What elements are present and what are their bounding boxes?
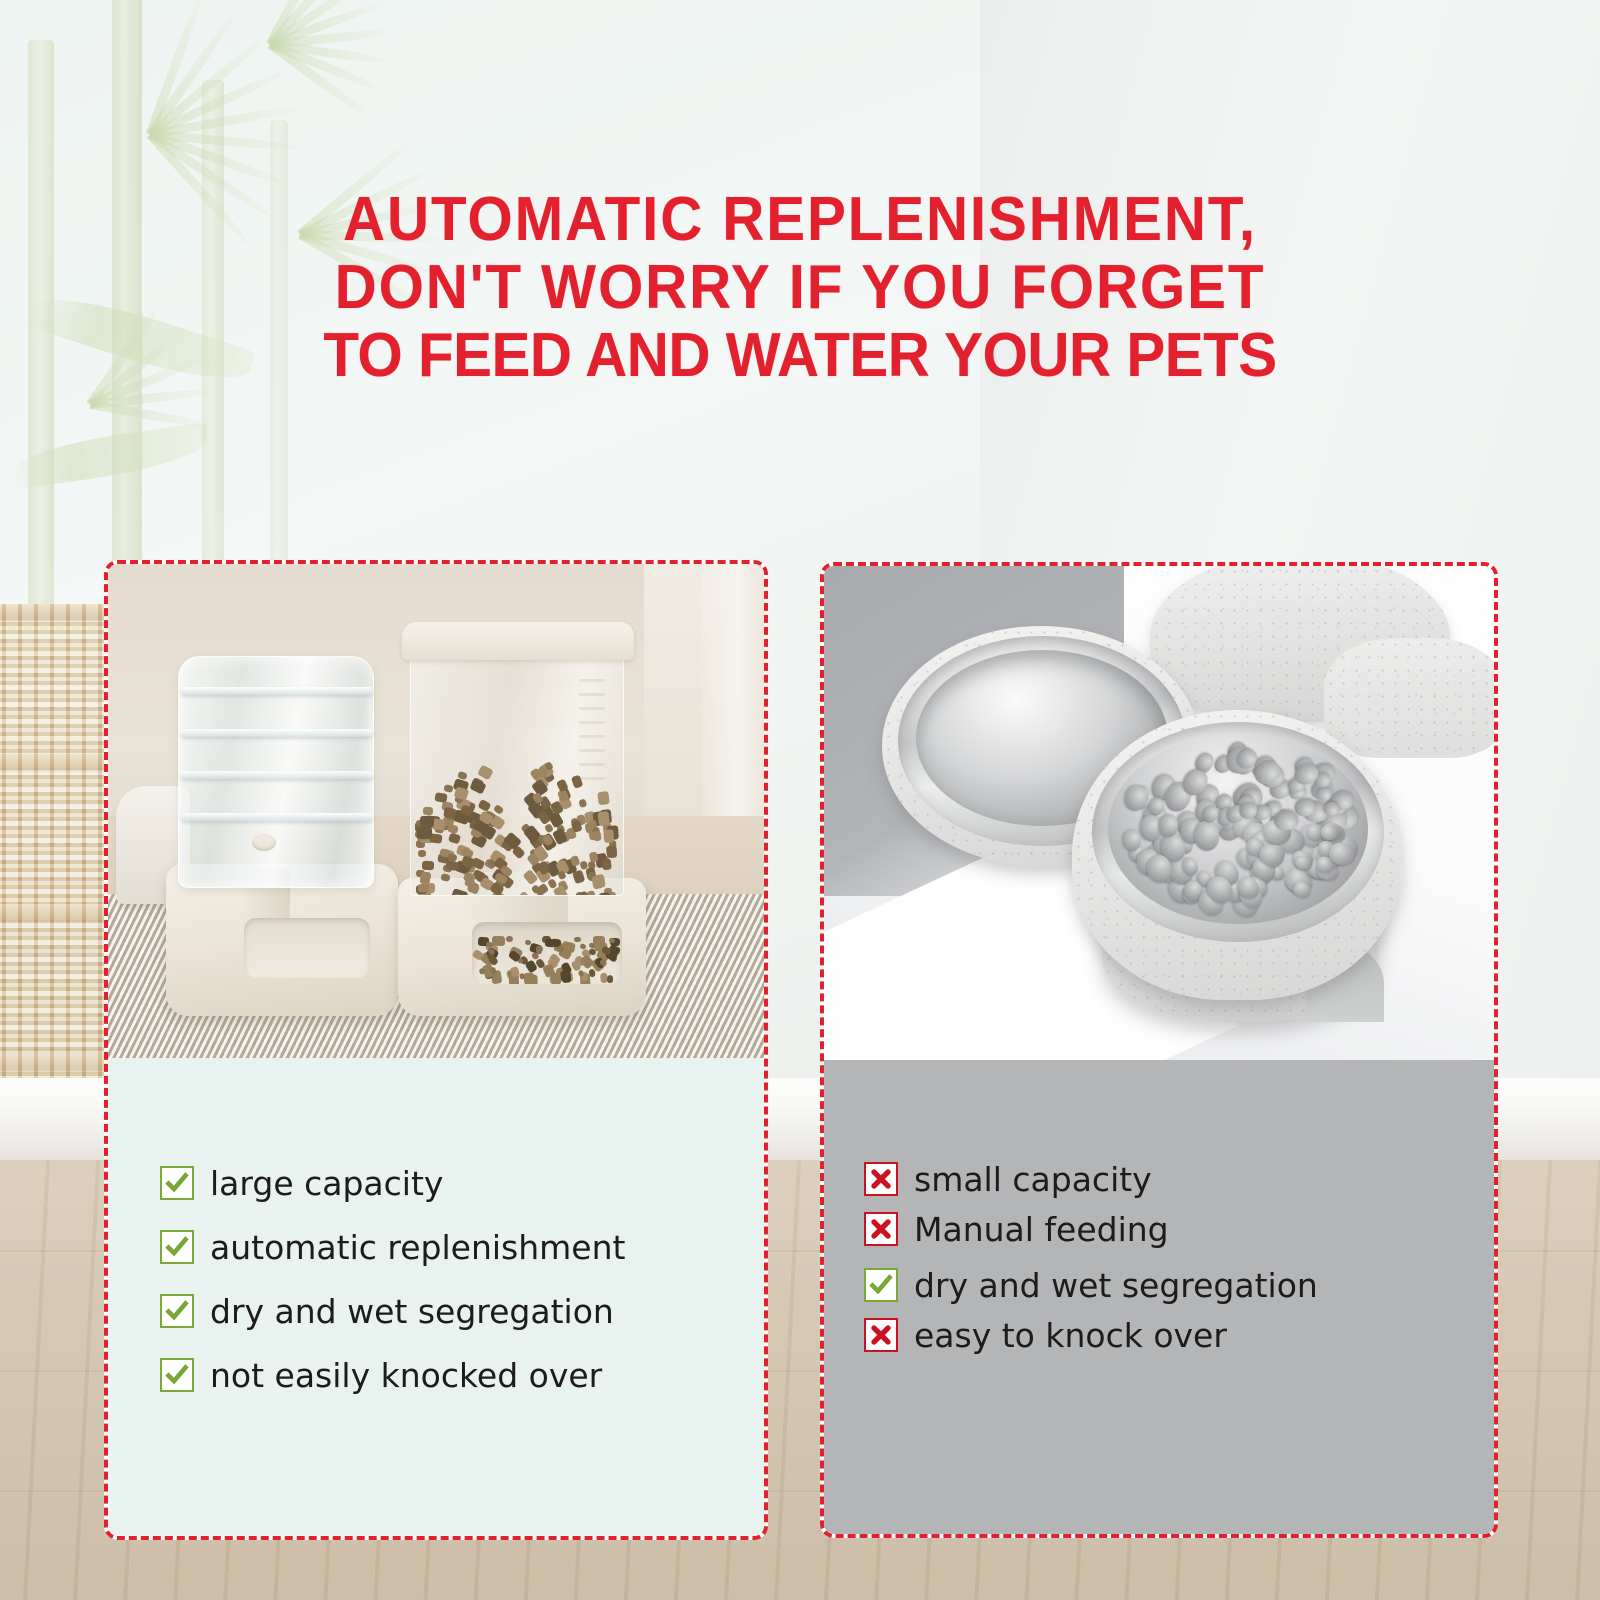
- product-panel-left: large capacity automatic replenishment: [104, 560, 768, 1540]
- feature-item: Manual feeding: [864, 1212, 1318, 1246]
- feature-item: dry and wet segregation: [864, 1268, 1318, 1302]
- feature-label: dry and wet segregation: [914, 1269, 1318, 1302]
- cross-icon: [864, 1318, 898, 1352]
- headline: AUTOMATIC REPLENISHMENT, DON'T WORRY IF …: [0, 186, 1600, 390]
- feature-label: easy to knock over: [914, 1319, 1227, 1352]
- check-icon: [864, 1268, 898, 1302]
- product-photo-right: [824, 566, 1494, 1060]
- check-icon: [160, 1358, 194, 1392]
- check-icon: [160, 1230, 194, 1264]
- water-dispenser: [166, 656, 398, 1016]
- feature-label: automatic replenishment: [210, 1231, 625, 1264]
- feature-label: small capacity: [914, 1163, 1152, 1196]
- check-icon: [160, 1166, 194, 1200]
- food-bowl-interior: [1108, 734, 1368, 924]
- double-pet-bowl: [854, 574, 1414, 1044]
- feature-label: dry and wet segregation: [210, 1295, 614, 1328]
- product-panel-right: small capacity Manual feeding: [820, 562, 1498, 1538]
- feature-label: large capacity: [210, 1167, 443, 1200]
- food-dispenser: [398, 622, 646, 1016]
- headline-line-1: AUTOMATIC REPLENISHMENT,: [48, 186, 1552, 254]
- feature-item: not easily knocked over: [160, 1358, 625, 1392]
- feature-item: large capacity: [160, 1166, 625, 1200]
- cross-icon: [864, 1162, 898, 1196]
- infographic-stage: AUTOMATIC REPLENISHMENT, DON'T WORRY IF …: [0, 0, 1600, 1600]
- headline-line-2: DON'T WORRY IF YOU FORGET: [48, 254, 1552, 322]
- feature-item: dry and wet segregation: [160, 1294, 625, 1328]
- cross-icon: [864, 1212, 898, 1246]
- headline-line-3: TO FEED AND WATER YOUR PETS: [48, 322, 1552, 390]
- feature-item: easy to knock over: [864, 1318, 1318, 1352]
- feature-item: small capacity: [864, 1162, 1318, 1196]
- feature-caption-left: large capacity automatic replenishment: [108, 1058, 764, 1540]
- feature-list-left: large capacity automatic replenishment: [160, 1166, 625, 1422]
- feature-item: automatic replenishment: [160, 1230, 625, 1264]
- product-photo-left: [108, 564, 764, 1058]
- check-icon: [160, 1294, 194, 1328]
- feature-list-right: small capacity Manual feeding: [864, 1162, 1318, 1368]
- feature-label: Manual feeding: [914, 1213, 1169, 1246]
- feature-label: not easily knocked over: [210, 1359, 602, 1392]
- feature-caption-right: small capacity Manual feeding: [824, 1060, 1494, 1538]
